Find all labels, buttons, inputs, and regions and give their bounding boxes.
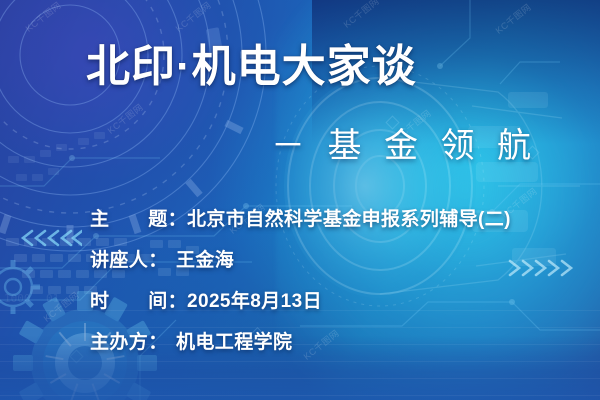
info-label-topic: 主 题： (90, 204, 187, 231)
poster-content: 北印·机电大家谈 － 基 金 领 航 主 题： 北京市自然科学基金申报系列辅导(… (0, 0, 600, 400)
info-row-time: 时 间： 2025年8月13日 (90, 286, 511, 313)
info-row-organizer: 主办方： 机电工程学院 (90, 327, 511, 354)
info-row-topic: 主 题： 北京市自然科学基金申报系列辅导(二) (90, 204, 511, 231)
info-label-organizer: 主办方： (90, 327, 176, 354)
info-label-time: 时 间： (90, 286, 187, 313)
poster-banner: 1000 01 (0, 0, 600, 400)
poster-info-list: 主 题： 北京市自然科学基金申报系列辅导(二) 讲座人： 王金海 时 间： 20… (90, 204, 511, 354)
poster-title: 北印·机电大家谈 (86, 42, 417, 91)
poster-subtitle: － 基 金 领 航 (0, 118, 538, 167)
info-value-organizer: 机电工程学院 (176, 327, 292, 354)
info-label-speaker: 讲座人： (90, 245, 176, 272)
info-value-topic: 北京市自然科学基金申报系列辅导(二) (187, 204, 511, 231)
info-value-speaker: 王金海 (176, 245, 234, 272)
info-row-speaker: 讲座人： 王金海 (90, 245, 511, 272)
info-value-time: 2025年8月13日 (187, 286, 322, 313)
